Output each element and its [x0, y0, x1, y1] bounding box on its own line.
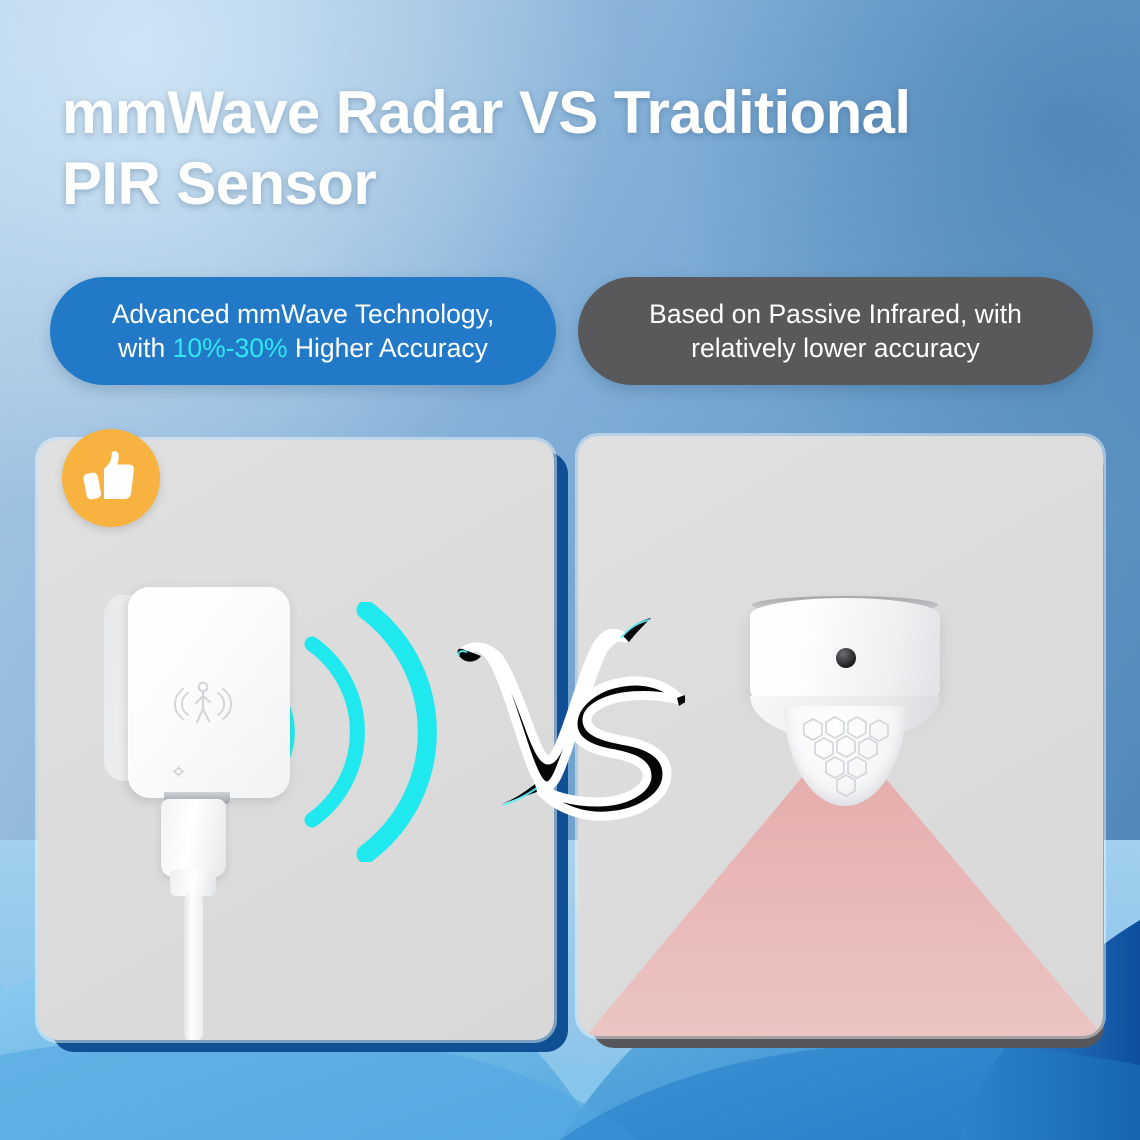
versus-brush-mark-icon: VS — [455, 608, 685, 870]
badge-mmwave-text-suffix: Higher Accuracy — [288, 333, 488, 363]
mmwave-sensor-device — [104, 587, 290, 807]
usb-c-connector — [161, 799, 226, 877]
fresnel-lens-svg — [784, 706, 906, 806]
thumbs-up-svg — [81, 446, 141, 506]
badge-mmwave-text: Advanced mmWave Technology, with 10%-30%… — [112, 297, 494, 366]
badge-pir-text: Based on Passive Infrared, with relative… — [649, 297, 1022, 366]
badge-pir-description: Based on Passive Infrared, with relative… — [578, 277, 1093, 385]
walking-person-motion-icon — [174, 675, 232, 733]
infographic-stage: mmWave Radar VS Traditional PIR Sensor A… — [0, 0, 1140, 1140]
badge-mmwave-advantage: Advanced mmWave Technology, with 10%-30%… — [50, 277, 556, 385]
led-svg — [172, 765, 185, 778]
honeycomb-fresnel-lens-icon — [784, 706, 906, 806]
pir-indicator-dot-icon — [836, 648, 856, 668]
page-title: mmWave Radar VS Traditional PIR Sensor — [62, 78, 1102, 220]
versus-svg — [455, 608, 685, 870]
power-cable — [184, 892, 203, 1040]
thumbs-up-badge — [62, 429, 160, 527]
badge-mmwave-accuracy-highlight: 10%-30% — [173, 333, 288, 363]
pir-sensor-device — [732, 588, 954, 798]
mmwave-status-led-icon — [172, 765, 185, 778]
thumbs-up-icon — [81, 446, 141, 511]
motion-icon-svg — [174, 675, 232, 733]
